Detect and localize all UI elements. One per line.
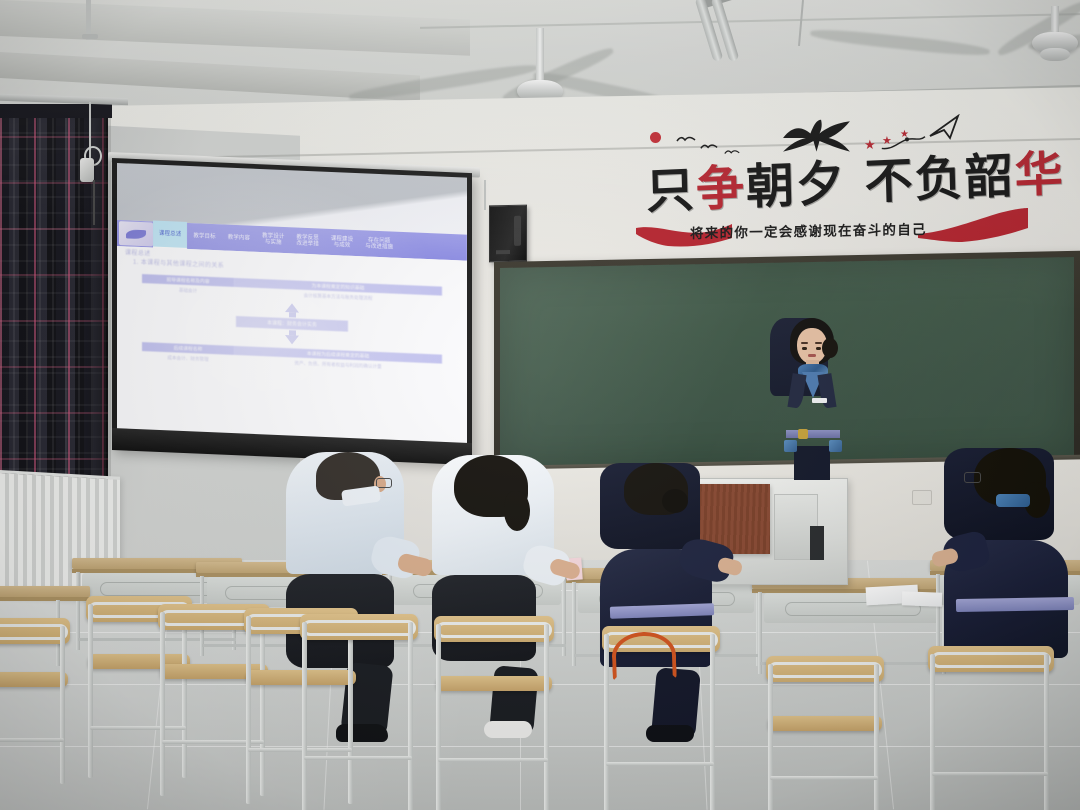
chair[interactable]: [766, 656, 884, 810]
chair-occupied[interactable]: [300, 614, 418, 810]
presentation-slide[interactable]: 课程总述 教学目标 教学内容 教学设计 与实施 教学反思 改进举措 课程建设 与…: [117, 220, 467, 454]
screen-pull-cord-lower[interactable]: [93, 180, 95, 225]
student-2-attire: white short-sleeve shirt, dark trousers,…: [432, 661, 433, 662]
red-sun-dot-icon: [650, 132, 661, 143]
ceiling-beam: [0, 0, 470, 56]
chair-occupied[interactable]: [928, 646, 1054, 810]
podium-dark-edge: [810, 526, 824, 560]
projection-screen[interactable]: 课程总述 教学目标 教学内容 教学设计 与实施 教学反思 改进举措 课程建设 与…: [117, 163, 467, 454]
bird-icon: [700, 142, 714, 149]
power-outlet[interactable]: [912, 490, 932, 505]
teacher-belt-buckle: [798, 429, 808, 439]
slide-tab-2[interactable]: 教学内容: [222, 224, 256, 251]
student-3-accessory: orange bag strap hanging on chair back: [600, 667, 601, 668]
slide-tab-4[interactable]: 教学反思 改进举措: [291, 227, 325, 254]
fluorescent-light-icon: [690, 0, 820, 62]
projector-mount-hook: [82, 34, 98, 39]
slide-tab-6[interactable]: 存在问题 与改进措施: [359, 230, 399, 258]
teacher-role: instructor: [770, 396, 771, 397]
motivational-wall-decal: ★ ★ ★ 只争朝夕 不负韶华 将来的你一定会感谢现在奋: [628, 112, 1028, 260]
classroom-photo: ★ ★ ★ 只争朝夕 不负韶华 将来的你一定会感谢现在奋: [0, 0, 1080, 810]
table-cell: 成本会计、财务管理: [142, 351, 234, 367]
slide-tab-3[interactable]: 教学设计 与实施: [256, 226, 290, 253]
slide-tab-0[interactable]: 课程总述: [153, 221, 187, 250]
banner-main-text: 只争朝夕 不负韶华: [645, 136, 1017, 232]
paper-plane-icon: [928, 114, 962, 140]
bird-icon: [676, 134, 690, 141]
wall-speaker: [489, 205, 527, 263]
speaker-wire: [484, 180, 486, 210]
student-4-belt: [956, 597, 1074, 612]
teacher-name-badge: [812, 398, 827, 403]
teacher[interactable]: instructor: [770, 318, 854, 488]
orange-bag-strap[interactable]: [611, 631, 677, 681]
slide-tab-1[interactable]: 教学目标: [187, 223, 221, 250]
slide-tab-5[interactable]: 课程建设 与成效: [325, 229, 359, 256]
screen-pull-handle[interactable]: [80, 158, 94, 182]
curtain-header: [0, 104, 112, 118]
table-cell: 基础会计: [142, 283, 234, 299]
paper-sheet[interactable]: [902, 591, 942, 606]
student-4-scarf: [996, 494, 1030, 507]
chair-occupied[interactable]: [434, 616, 554, 810]
glasses-icon: [964, 472, 981, 483]
slide-body: 课程总述 1. 本课程与其他课程之间的关系 前导课程名称及内容 为本课程奠定的知…: [117, 246, 467, 454]
slide-logo: [119, 221, 153, 246]
banner-sub-text: 将来的你一定会感谢现在奋斗的自己: [690, 218, 927, 242]
banner-main-text-value: 只争朝夕 不负韶华: [628, 112, 629, 113]
teacher-belt: [786, 430, 840, 438]
chair[interactable]: [0, 618, 70, 788]
